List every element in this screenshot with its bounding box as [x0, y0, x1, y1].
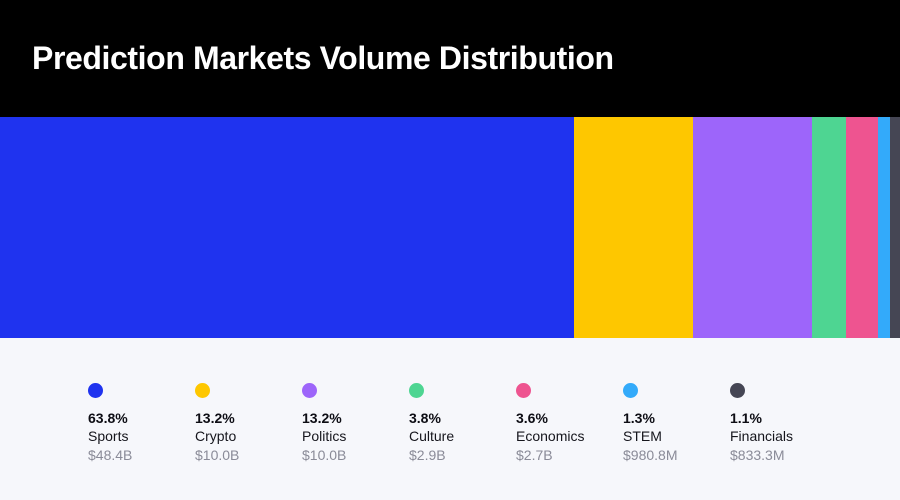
legend-label: STEM	[623, 427, 662, 446]
bar-segment-politics[interactable]	[693, 117, 812, 338]
legend-percent: 63.8%	[88, 409, 128, 427]
legend-color-dot-icon	[730, 383, 745, 398]
legend-item-politics[interactable]: 13.2%Politics$10.0B	[302, 383, 409, 465]
bar-segment-crypto[interactable]	[574, 117, 693, 338]
legend-percent: 3.6%	[516, 409, 548, 427]
legend-color-dot-icon	[409, 383, 424, 398]
legend-percent: 1.3%	[623, 409, 655, 427]
page-title: Prediction Markets Volume Distribution	[32, 40, 614, 77]
legend-item-sports[interactable]: 63.8%Sports$48.4B	[88, 383, 195, 465]
legend-color-dot-icon	[88, 383, 103, 398]
legend-amount: $2.7B	[516, 446, 553, 465]
legend-percent: 3.8%	[409, 409, 441, 427]
bar-segment-culture[interactable]	[812, 117, 846, 338]
legend-label: Crypto	[195, 427, 236, 446]
legend-percent: 13.2%	[302, 409, 342, 427]
chart-page: Prediction Markets Volume Distribution 6…	[0, 0, 900, 500]
legend-amount: $980.8M	[623, 446, 677, 465]
legend-color-dot-icon	[623, 383, 638, 398]
legend-amount: $48.4B	[88, 446, 132, 465]
legend-item-financials[interactable]: 1.1%Financials$833.3M	[730, 383, 837, 465]
legend-amount: $10.0B	[302, 446, 346, 465]
legend-amount: $2.9B	[409, 446, 446, 465]
legend-label: Sports	[88, 427, 128, 446]
bar-segment-stem[interactable]	[878, 117, 890, 338]
legend-percent: 13.2%	[195, 409, 235, 427]
stacked-bar-chart	[0, 117, 900, 338]
legend-color-dot-icon	[195, 383, 210, 398]
legend-list: 63.8%Sports$48.4B13.2%Crypto$10.0B13.2%P…	[88, 383, 837, 465]
legend-panel: 63.8%Sports$48.4B13.2%Crypto$10.0B13.2%P…	[0, 338, 900, 500]
legend-color-dot-icon	[302, 383, 317, 398]
legend-label: Financials	[730, 427, 793, 446]
legend-label: Economics	[516, 427, 584, 446]
legend-item-culture[interactable]: 3.8%Culture$2.9B	[409, 383, 516, 465]
legend-item-stem[interactable]: 1.3%STEM$980.8M	[623, 383, 730, 465]
legend-item-economics[interactable]: 3.6%Economics$2.7B	[516, 383, 623, 465]
legend-label: Politics	[302, 427, 346, 446]
legend-item-crypto[interactable]: 13.2%Crypto$10.0B	[195, 383, 302, 465]
legend-percent: 1.1%	[730, 409, 762, 427]
legend-amount: $10.0B	[195, 446, 239, 465]
bar-segment-sports[interactable]	[0, 117, 574, 338]
legend-label: Culture	[409, 427, 454, 446]
legend-color-dot-icon	[516, 383, 531, 398]
bar-segment-economics[interactable]	[846, 117, 878, 338]
header-bar: Prediction Markets Volume Distribution	[0, 0, 900, 117]
bar-segment-financials[interactable]	[890, 117, 900, 338]
legend-amount: $833.3M	[730, 446, 784, 465]
